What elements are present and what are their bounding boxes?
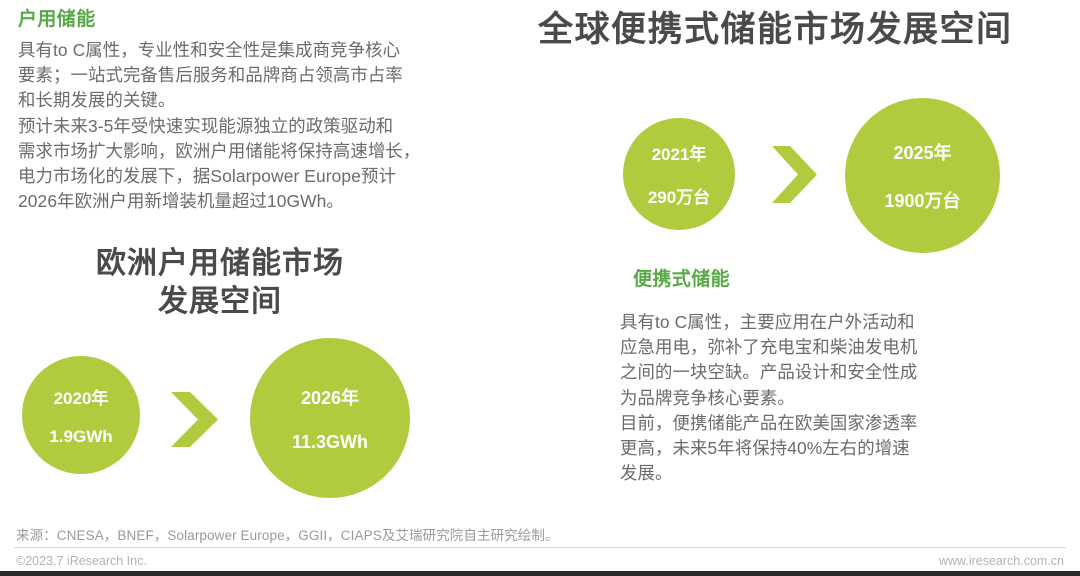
bottom-band: [0, 571, 1080, 576]
bubble-left-to-year: 2026年: [301, 384, 359, 410]
left-chart-title: 欧洲户用储能市场 发展空间: [20, 245, 420, 321]
left-section-body: 具有to C属性，专业性和安全性是集成商竞争核心 要素；一站式完备售后服务和品牌…: [18, 38, 530, 214]
footer-divider: [14, 547, 1066, 548]
bubble-left-from: 2020年 1.9GWh: [22, 356, 140, 474]
bubble-right-to: 2025年 1900万台: [845, 98, 1000, 253]
bubble-left-to-value: 11.3GWh: [292, 432, 368, 453]
bubble-right-to-year: 2025年: [893, 139, 951, 165]
bubble-left-to: 2026年 11.3GWh: [250, 338, 410, 498]
chevron-right-icon: [171, 392, 218, 447]
chevron-right-icon: [772, 146, 817, 203]
page-title: 全球便携式储能市场发展空间: [538, 8, 1013, 52]
source-note: 来源：CNESA，BNEF，Solarpower Europe，GGII，CIA…: [16, 524, 559, 544]
copyright-text: ©2023.7 iResearch Inc.: [16, 554, 147, 568]
bubble-left-from-year: 2020年: [54, 384, 109, 409]
website-link[interactable]: www.iresearch.com.cn: [939, 554, 1064, 568]
bubble-right-from-year: 2021年: [652, 140, 707, 165]
slide-canvas: 全球便携式储能市场发展空间 户用储能 具有to C属性，专业性和安全性是集成商竞…: [0, 0, 1080, 576]
bubble-right-to-value: 1900万台: [884, 187, 960, 213]
bubble-left-from-value: 1.9GWh: [49, 427, 112, 447]
bubble-right-from-value: 290万台: [648, 183, 710, 208]
right-section-heading: 便携式储能: [633, 268, 730, 292]
right-section-body: 具有to C属性，主要应用在户外活动和 应急用电，弥补了充电宝和柴油发电机 之间…: [620, 310, 1020, 486]
bubble-right-from: 2021年 290万台: [623, 118, 735, 230]
left-section-heading: 户用储能: [18, 8, 96, 32]
